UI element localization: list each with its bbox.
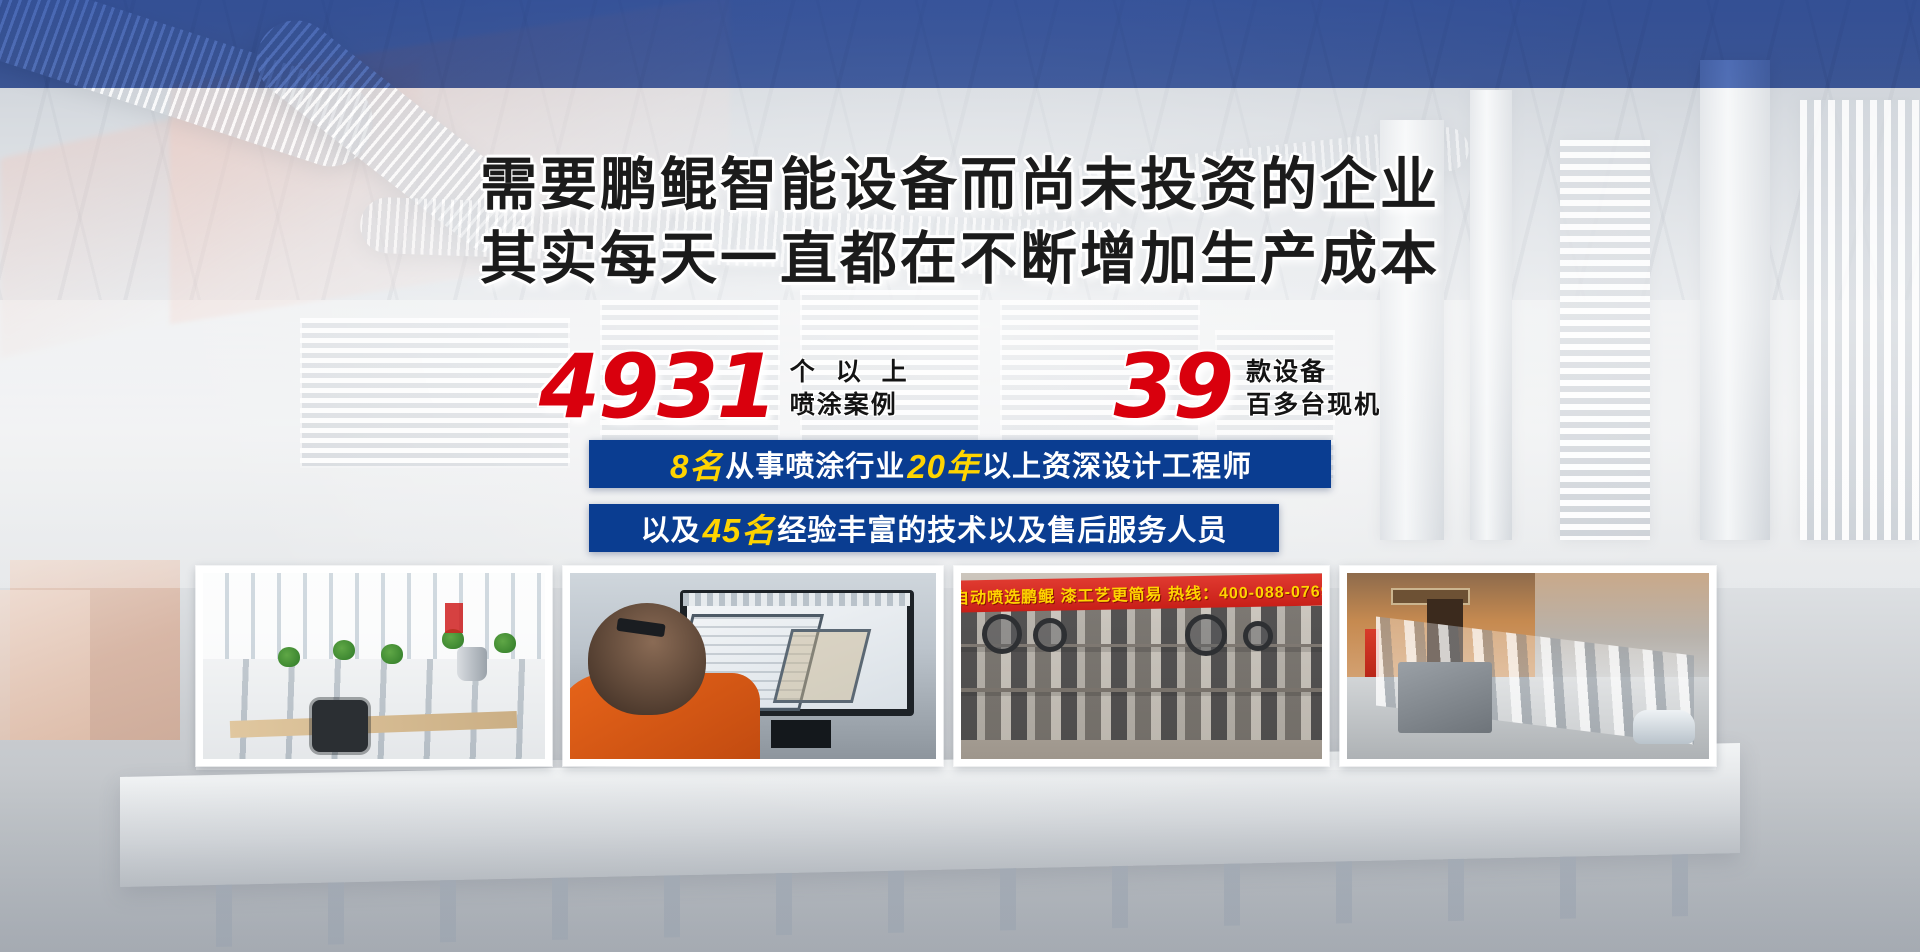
shop-goods-row — [961, 692, 1323, 740]
office-cubicles — [203, 659, 545, 759]
shop-goods-row — [961, 647, 1323, 688]
bar1-highlight-years: 20年 — [905, 440, 982, 488]
headline-block: 需要鹏鲲智能设备而尚未投资的企业 其实每天一直都在不断增加生产成本 — [0, 148, 1920, 296]
photo-production-line[interactable] — [1340, 566, 1716, 766]
stat-label-bottom: 喷涂案例 — [790, 388, 914, 422]
bar2-highlight-count: 45名 — [701, 504, 778, 552]
photo-production-line-image — [1347, 573, 1709, 759]
stat-label-top: 款设备 — [1246, 356, 1381, 388]
headline-line-2: 其实每天一直都在不断增加生产成本 — [0, 222, 1920, 296]
stat-label-group: 款设备 百多台现机 — [1246, 352, 1381, 422]
office-plant — [333, 640, 355, 660]
stat-label-group: 个 以 上 喷涂案例 — [790, 352, 914, 422]
photo-cad-engineer-image — [570, 573, 936, 759]
photo-office-image — [203, 573, 545, 759]
stat-equipment-models: 39 款设备 百多台现机 — [1114, 345, 1381, 429]
stat-label-bottom: 百多台现机 — [1246, 388, 1381, 422]
office-chair — [312, 700, 368, 752]
photo-hardware-shop[interactable]: 自动喷选鹏鲲 漆工艺更简易 热线：400-088-0769 — [954, 566, 1330, 766]
shop-pan — [1185, 614, 1227, 656]
office-flag — [445, 603, 463, 633]
stat-spray-cases: 4931 个 以 上 喷涂案例 — [539, 345, 914, 429]
bar1-highlight-count: 8名 — [668, 440, 725, 488]
top-blue-overlay-gradient — [0, 0, 1920, 88]
photo-hardware-shop-image: 自动喷选鹏鲲 漆工艺更简易 热线：400-088-0769 — [961, 573, 1323, 759]
photo-strip: 自动喷选鹏鲲 漆工艺更简易 热线：400-088-0769 — [196, 566, 1716, 766]
shop-pan — [1243, 621, 1273, 651]
stat-label-top: 个 以 上 — [790, 356, 914, 388]
bar1-text-2: 以上资深设计工程师 — [982, 443, 1252, 485]
office-plant — [278, 647, 300, 667]
blue-bar-engineers: 8名 从事喷涂行业 20年 以上资深设计工程师 — [589, 440, 1331, 488]
monitor-stand — [771, 720, 831, 748]
office-plant — [381, 644, 403, 664]
parked-car — [1633, 710, 1695, 744]
shop-pan — [982, 614, 1022, 654]
stat-number: 39 — [1114, 345, 1232, 429]
bar2-text-1: 以及 — [641, 507, 701, 549]
shop-red-banner-text: 自动喷选鹏鲲 漆工艺更简易 热线：400-088-0769 — [960, 577, 1322, 608]
blue-bar-support-staff: 以及 45名 经验丰富的技术以及售后服务人员 — [589, 504, 1279, 552]
office-kettle — [457, 647, 487, 681]
stat-number: 4931 — [539, 345, 776, 429]
cad-toolbar — [683, 593, 910, 606]
bar2-text-2: 经验丰富的技术以及售后服务人员 — [777, 507, 1227, 549]
process-tank — [1398, 662, 1492, 733]
shop-pan — [1033, 618, 1067, 652]
stats-row: 4931 个 以 上 喷涂案例 39 款设备 百多台现机 — [0, 345, 1920, 429]
photo-cad-engineer[interactable] — [563, 566, 943, 766]
headline-line-1: 需要鹏鲲智能设备而尚未投资的企业 — [0, 148, 1920, 222]
bar1-text-1: 从事喷涂行业 — [725, 443, 905, 485]
engineer-head — [588, 603, 706, 715]
office-plant — [494, 633, 516, 653]
photo-office[interactable] — [196, 566, 552, 766]
